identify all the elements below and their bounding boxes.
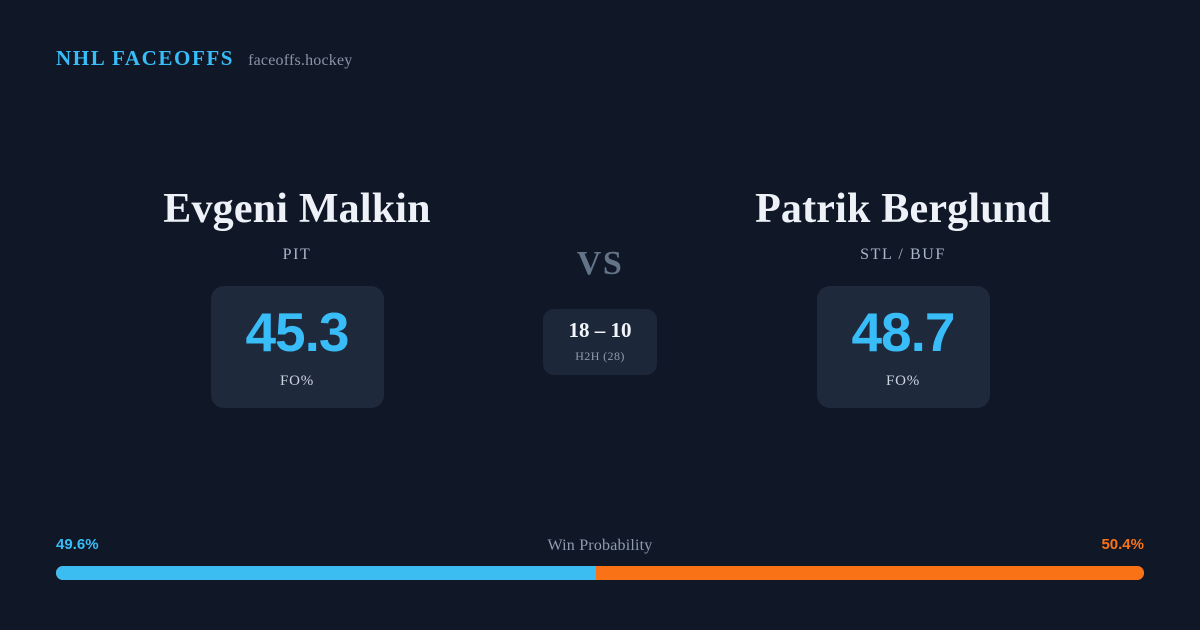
right-player-name: Patrik Berglund bbox=[755, 185, 1051, 233]
head-to-head-box: 18 – 10 H2H (28) bbox=[543, 309, 657, 375]
win-probability-title: Win Probability bbox=[56, 537, 1144, 555]
win-probability-labels: 49.6% Win Probability 50.4% bbox=[56, 536, 1144, 556]
matchup-row: Evgeni Malkin PIT 45.3 FO% VS 18 – 10 H2… bbox=[0, 185, 1200, 408]
left-stat-label: FO% bbox=[280, 373, 314, 390]
left-player-block: Evgeni Malkin PIT 45.3 FO% bbox=[82, 185, 512, 408]
win-probability-section: 49.6% Win Probability 50.4% bbox=[56, 536, 1144, 580]
head-to-head-label: H2H (28) bbox=[575, 349, 625, 364]
faceoff-matchup-card: NHL FACEOFFS faceoffs.hockey Evgeni Malk… bbox=[0, 0, 1200, 630]
head-to-head-record: 18 – 10 bbox=[569, 320, 632, 341]
right-stat-card: 48.7 FO% bbox=[817, 286, 990, 408]
versus-label: VS bbox=[577, 247, 623, 281]
left-stat-value: 45.3 bbox=[245, 305, 348, 360]
left-player-name: Evgeni Malkin bbox=[163, 185, 430, 233]
left-stat-card: 45.3 FO% bbox=[211, 286, 384, 408]
versus-block: VS 18 – 10 H2H (28) bbox=[512, 185, 688, 375]
right-player-team: STL / BUF bbox=[860, 246, 946, 264]
right-player-block: Patrik Berglund STL / BUF 48.7 FO% bbox=[688, 185, 1118, 408]
left-player-team: PIT bbox=[283, 246, 312, 264]
right-stat-value: 48.7 bbox=[851, 305, 954, 360]
win-probability-bar bbox=[56, 566, 1144, 580]
brand-title: NHL FACEOFFS bbox=[56, 46, 234, 71]
win-probability-right-fill bbox=[596, 566, 1144, 580]
win-probability-right-value: 50.4% bbox=[1101, 536, 1144, 553]
win-probability-left-fill bbox=[56, 566, 596, 580]
site-domain: faceoffs.hockey bbox=[248, 52, 352, 70]
site-header: NHL FACEOFFS faceoffs.hockey bbox=[56, 46, 353, 71]
right-stat-label: FO% bbox=[886, 373, 920, 390]
